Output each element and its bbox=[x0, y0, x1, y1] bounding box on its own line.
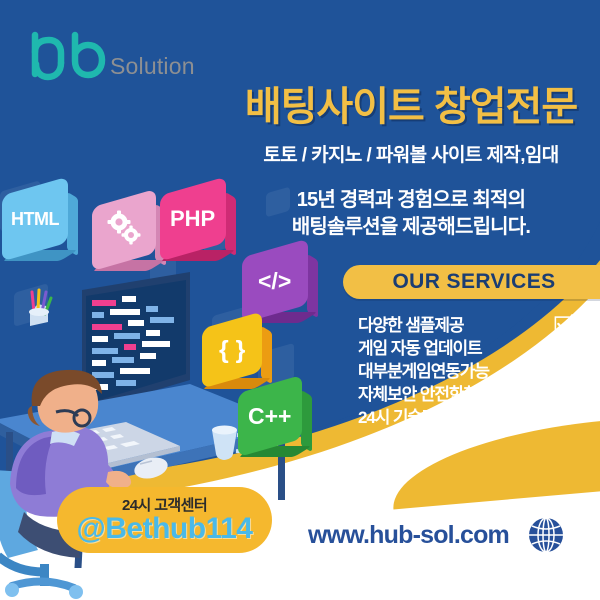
badge-label: { } bbox=[219, 336, 245, 365]
service-item[interactable]: 자체보안 안전한환경 bbox=[358, 381, 573, 403]
badge-cpp: C++ bbox=[238, 384, 302, 448]
checkbox-checked-icon[interactable] bbox=[554, 360, 573, 379]
badge-braces: { } bbox=[202, 320, 262, 380]
hero-description: 15년 경력과 경험으로 최적의 배팅솔루션을 제공해드립니다. bbox=[236, 187, 586, 241]
services-list: 다양한 샘플제공 게임 자동 업데이트 대부 bbox=[358, 312, 573, 427]
badge-face: C++ bbox=[238, 375, 302, 457]
brand-logo[interactable]: Solution bbox=[28, 30, 195, 82]
messenger-handle[interactable]: @Bethub114 bbox=[77, 514, 253, 545]
badge-side bbox=[67, 192, 78, 256]
badge-gears bbox=[92, 198, 156, 262]
website-link[interactable]: www.hub-sol.com bbox=[308, 516, 565, 554]
badge-label: PHP bbox=[170, 206, 215, 232]
pencil-holder bbox=[29, 290, 51, 326]
poster-root: Solution HTML bbox=[0, 0, 600, 600]
checkbox-checked-icon[interactable] bbox=[554, 314, 573, 333]
badge-code-tag: </> bbox=[242, 248, 308, 314]
our-services-banner: OUR SERVICES bbox=[343, 265, 600, 299]
globe-icon bbox=[527, 516, 565, 554]
badge-label: HTML bbox=[11, 209, 59, 230]
service-label: 자체보안 안전한환경 bbox=[358, 380, 492, 405]
badge-side bbox=[307, 254, 318, 318]
service-item[interactable]: 게임 자동 업데이트 bbox=[358, 335, 573, 357]
hero-description-line-1: 15년 경력과 경험으로 최적의 bbox=[236, 187, 586, 214]
service-label: 게임 자동 업데이트 bbox=[358, 334, 482, 359]
badge-side bbox=[225, 192, 236, 256]
page-title: 배팅사이트 창업전문 bbox=[236, 86, 586, 128]
service-item[interactable]: 대부분게임연동가능 bbox=[358, 358, 573, 380]
website-url-text: www.hub-sol.com bbox=[308, 521, 509, 550]
service-item[interactable]: 다양한 샘플제공 bbox=[358, 312, 573, 334]
checkbox-checked-icon[interactable] bbox=[554, 383, 573, 402]
service-label: 24시 기술지원 bbox=[358, 403, 451, 428]
badge-side bbox=[301, 390, 312, 452]
gears-icon bbox=[104, 208, 144, 253]
hero-subtitle: 토토 / 카지노 / 파워볼 사이트 제작,임대 bbox=[236, 140, 586, 167]
badge-php: PHP bbox=[160, 186, 226, 252]
checkbox-checked-icon[interactable] bbox=[554, 337, 573, 356]
contact-pill[interactable]: 24시 고객센터 @Bethub114 bbox=[57, 487, 272, 553]
service-label: 다양한 샘플제공 bbox=[358, 311, 463, 336]
hub-logo-mark-icon bbox=[28, 30, 114, 82]
badge-side bbox=[261, 326, 272, 384]
badge-html: HTML bbox=[2, 186, 68, 252]
badge-face: HTML bbox=[2, 177, 68, 262]
service-label: 대부분게임연동가능 bbox=[358, 357, 489, 382]
our-services-label: OUR SERVICES bbox=[392, 270, 563, 294]
badge-label: C++ bbox=[248, 403, 291, 430]
hero-description-line-2: 배팅솔루션을 제공해드립니다. bbox=[236, 214, 586, 241]
badge-label: </> bbox=[258, 268, 291, 295]
checkbox-checked-icon[interactable] bbox=[554, 406, 573, 425]
badge-face: </> bbox=[242, 239, 308, 324]
service-item[interactable]: 24시 기술지원 bbox=[358, 404, 573, 426]
hero-text-block: 배팅사이트 창업전문 토토 / 카지노 / 파워볼 사이트 제작,임대 15년 … bbox=[236, 86, 586, 241]
badge-face bbox=[92, 189, 156, 271]
logo-word: Solution bbox=[110, 53, 195, 80]
badge-face: PHP bbox=[160, 177, 226, 262]
